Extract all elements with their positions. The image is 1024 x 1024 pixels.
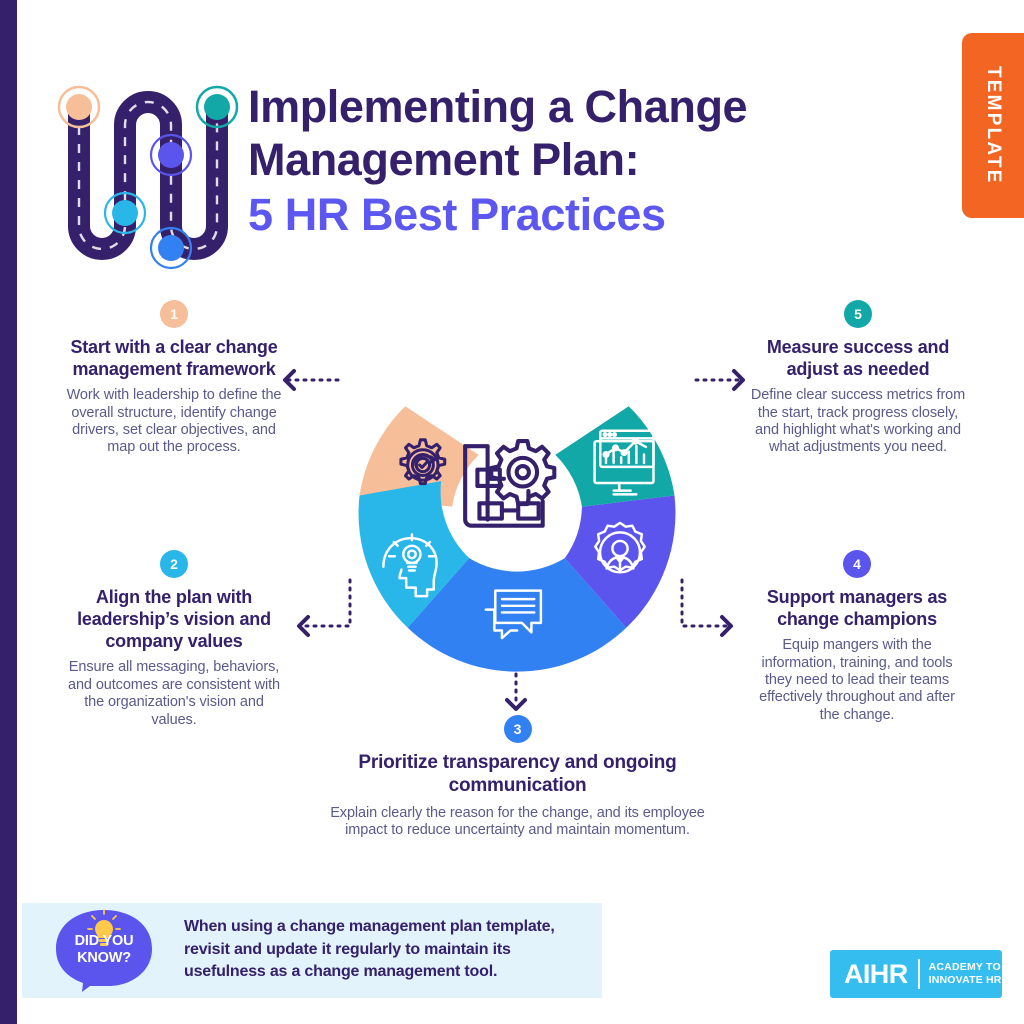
template-tab-label: TEMPLATE	[982, 66, 1004, 185]
step-block-4: 4 Support managers as change champions E…	[748, 550, 966, 724]
left-accent-bar	[0, 0, 17, 1024]
aihr-logo-tagline: ACADEMY TO INNOVATE HR	[929, 961, 1002, 987]
template-tab[interactable]: TEMPLATE	[962, 33, 1024, 218]
step-block-5: 5 Measure success and adjust as needed D…	[748, 300, 968, 457]
step-body-3: Explain clearly the reason for the chang…	[330, 805, 705, 840]
step-badge-2: 2	[160, 550, 188, 578]
header: Implementing a Change Management Plan: 5…	[52, 70, 952, 270]
step-title-2: Align the plan with leadership’s vision …	[64, 586, 284, 652]
page-title: Implementing a Change Management Plan: 5…	[248, 80, 968, 241]
blueprint-gear-icon	[465, 441, 554, 526]
title-line-1: Implementing a Change	[248, 80, 968, 133]
connector-arrow-2	[288, 576, 368, 648]
winding-road-icon	[52, 78, 242, 273]
infographic-canvas: TEMPLATE Implementing a Change Managemen…	[0, 0, 1024, 1024]
step-body-5: Define clear success metrics from the st…	[748, 387, 968, 457]
aihr-logo[interactable]: AIHR ACADEMY TO INNOVATE HR	[830, 950, 1002, 998]
step-title-5: Measure success and adjust as needed	[748, 336, 968, 380]
step-block-2: 2 Align the plan with leadership’s visio…	[64, 550, 284, 729]
step-title-4: Support managers as change champions	[748, 586, 966, 630]
title-line-2: Management Plan:	[248, 133, 968, 186]
step-block-1: 1 Start with a clear change management f…	[64, 300, 284, 457]
aihr-logo-name: AIHR	[844, 959, 908, 990]
tagline-line-2: INNOVATE HR	[929, 974, 1002, 987]
tagline-line-1: ACADEMY TO	[929, 961, 1002, 974]
connector-arrow-1	[278, 362, 350, 398]
step-title-3: Prioritize transparency and ongoing comm…	[330, 751, 705, 798]
step-block-3: 3 Prioritize transparency and ongoing co…	[330, 715, 705, 840]
step-badge-5: 5	[844, 300, 872, 328]
step-body-1: Work with leadership to define the overa…	[64, 387, 284, 457]
step-badge-1: 1	[160, 300, 188, 328]
connector-arrow-4	[664, 576, 744, 648]
step-badge-4: 4	[843, 550, 871, 578]
title-subtitle: 5 HR Best Practices	[248, 188, 968, 241]
logo-divider	[918, 959, 920, 989]
step-body-2: Ensure all messaging, behaviors, and out…	[64, 659, 284, 729]
step-body-4: Equip mangers with the information, trai…	[748, 637, 966, 724]
did-you-know-label: DID YOU KNOW?	[52, 933, 156, 967]
bubble-line-1: DID YOU	[52, 933, 156, 950]
bubble-line-2: KNOW?	[52, 950, 156, 967]
step-title-1: Start with a clear change management fra…	[64, 336, 284, 380]
step-badge-3: 3	[504, 715, 532, 743]
connector-arrow-5	[692, 362, 752, 398]
footer-tip-text: When using a change management plan temp…	[184, 916, 594, 984]
